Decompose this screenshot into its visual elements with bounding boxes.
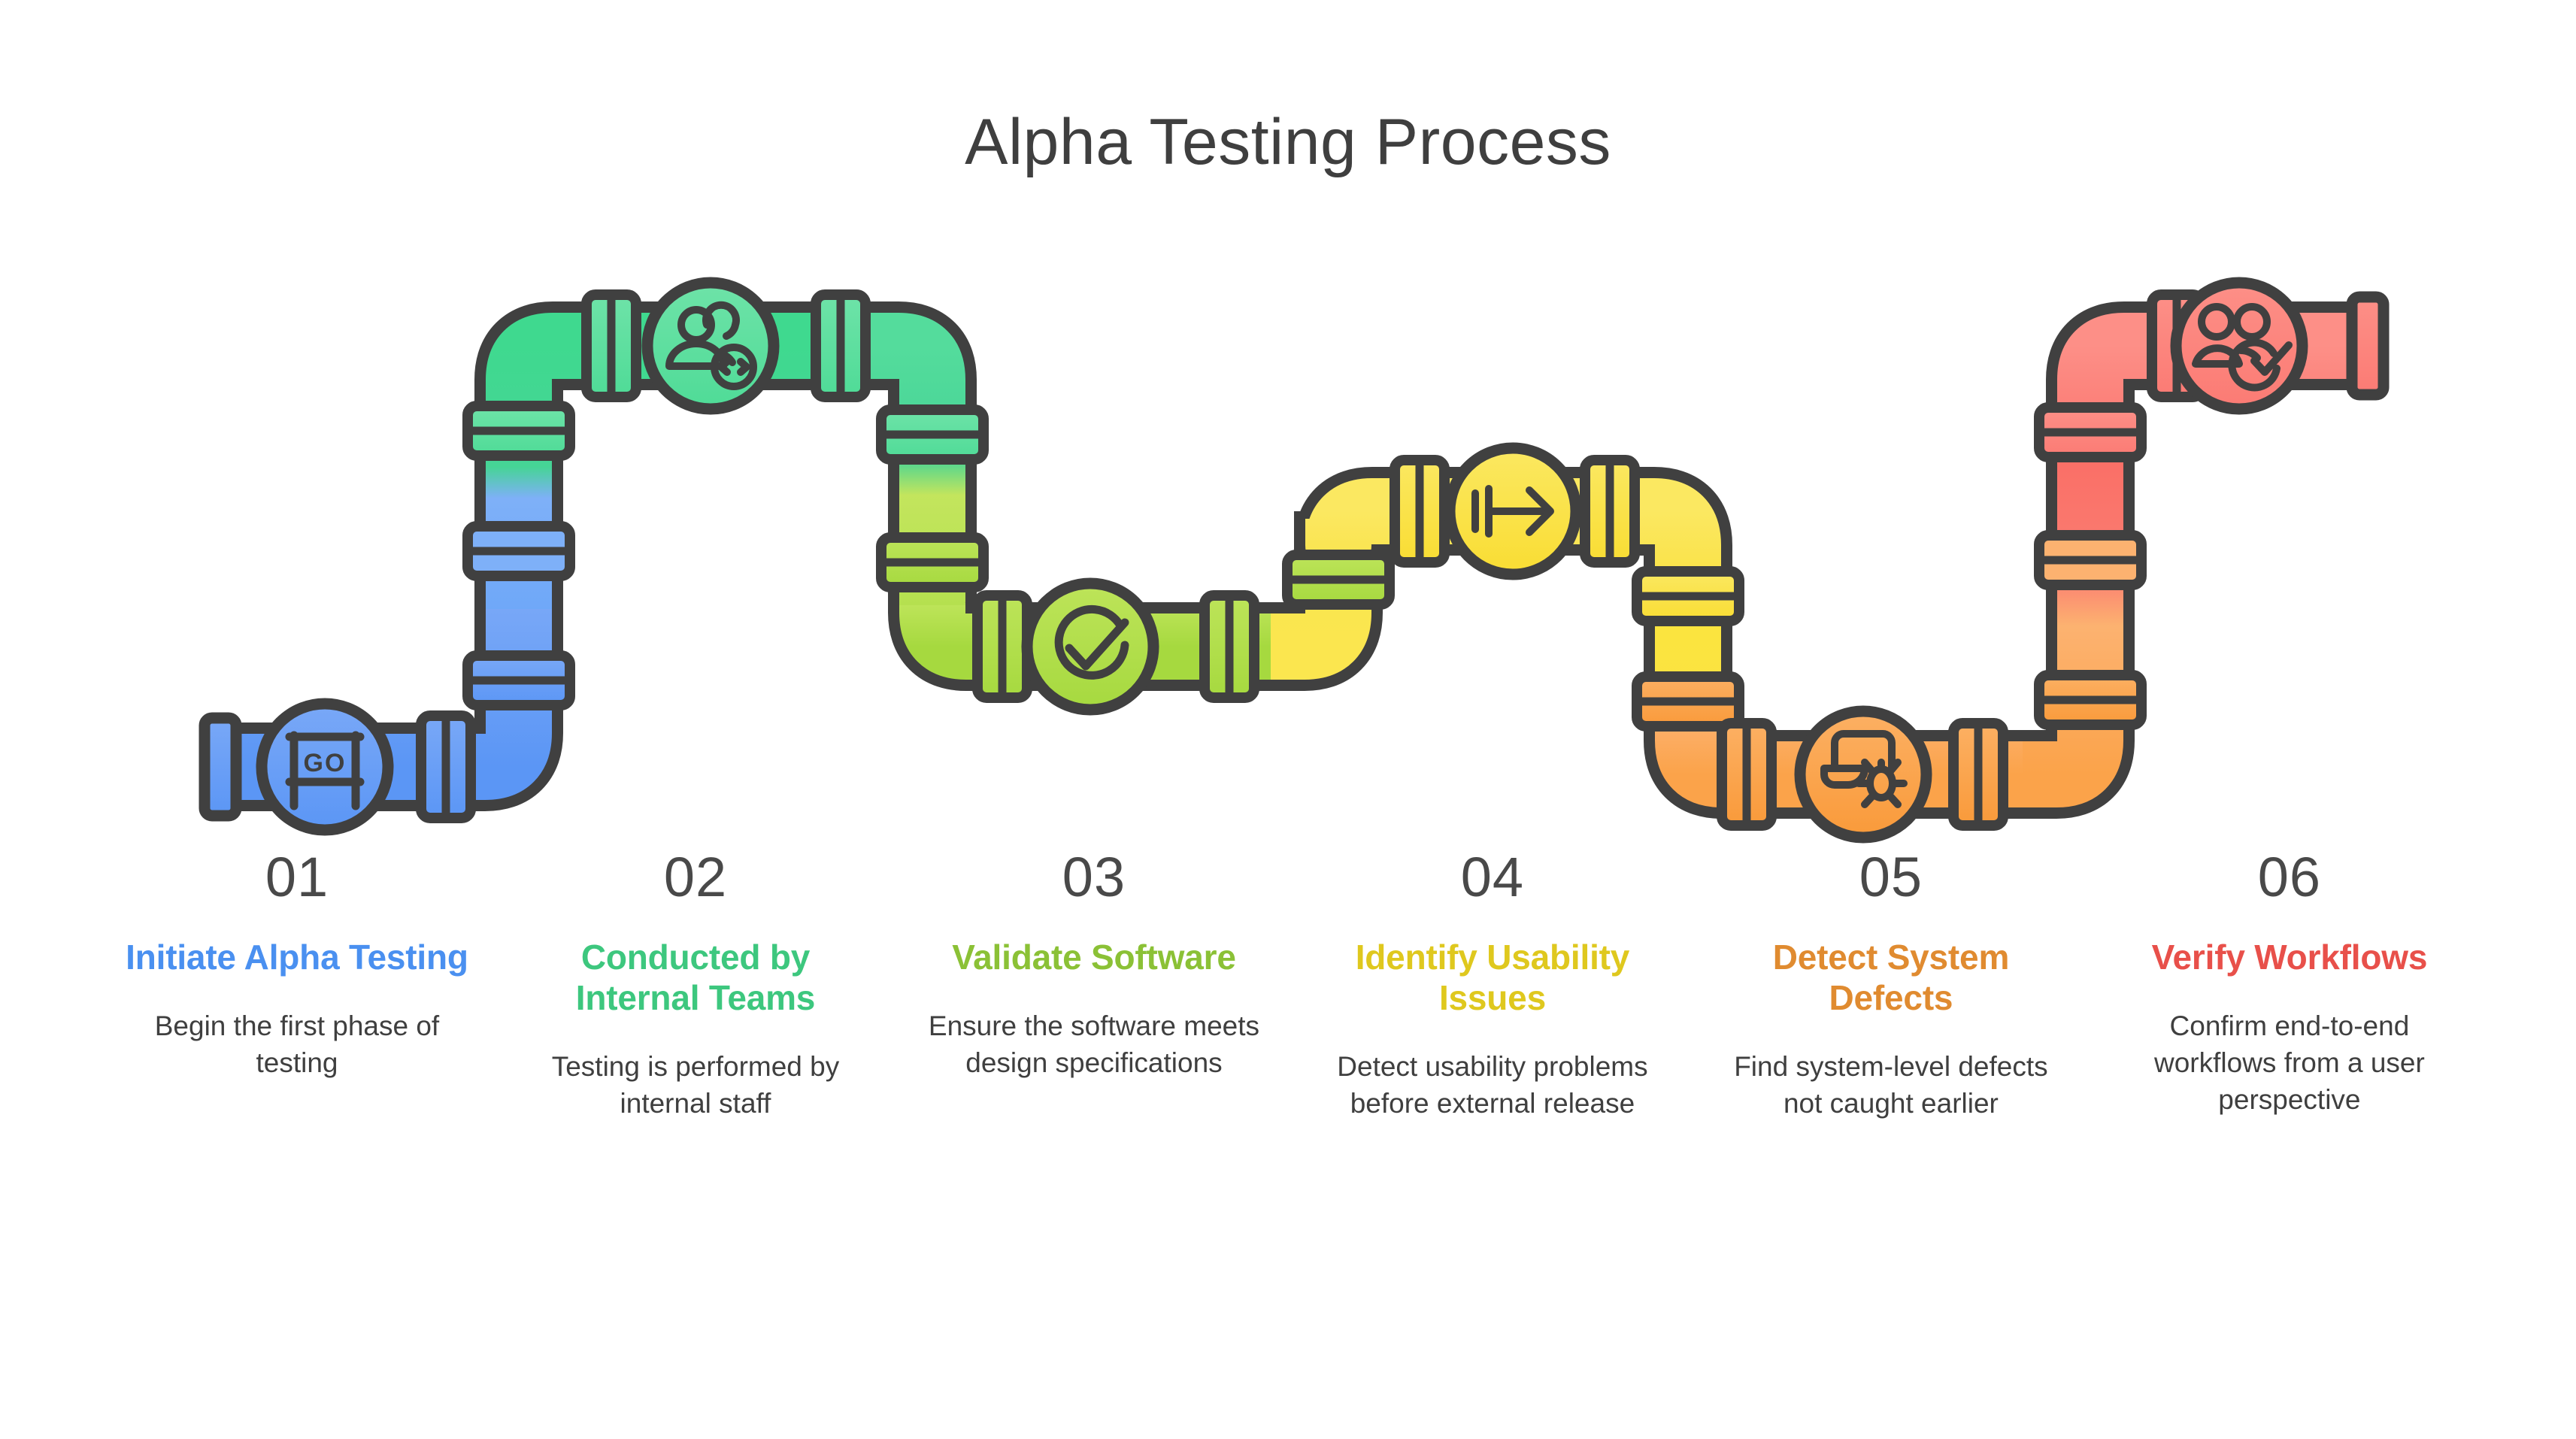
check-circle-icon bbox=[1059, 609, 1125, 675]
pipe-coupling bbox=[977, 595, 1027, 698]
step-column-05: 05 Detect System Defects Find system-lev… bbox=[1692, 848, 2090, 1122]
pipe-coupling bbox=[468, 406, 570, 456]
pipe-coupling bbox=[881, 538, 983, 587]
pipe-segment-01-02-riser bbox=[519, 346, 872, 609]
step-number: 01 bbox=[117, 848, 477, 907]
pipe-coupling bbox=[2152, 295, 2202, 397]
pipe-segment-05 bbox=[2023, 421, 2090, 774]
pipe-coupling bbox=[1637, 677, 1739, 726]
step-number: 06 bbox=[2110, 848, 2469, 907]
step-title: Validate Software bbox=[914, 937, 1274, 977]
step-description: Detect usability problems before externa… bbox=[1313, 1048, 1672, 1122]
pipe-segment-04-05 bbox=[1688, 624, 2030, 774]
pipe-coupling bbox=[1287, 555, 1390, 604]
pipe-coupling bbox=[1953, 723, 2003, 826]
users-check-icon bbox=[2196, 307, 2289, 388]
pipe-end-cap-left bbox=[205, 718, 236, 816]
pipe-coupling bbox=[586, 295, 636, 397]
go-sign-icon: GO bbox=[289, 735, 360, 806]
pipeline-diagram: GO bbox=[0, 0, 2576, 1439]
step-number: 02 bbox=[516, 848, 875, 907]
step-column-03: 03 Validate Software Ensure the software… bbox=[895, 848, 1293, 1081]
pipe-coupling bbox=[1722, 723, 1771, 826]
step-description: Confirm end-to-end workflows from a user… bbox=[2110, 1007, 2469, 1119]
pipe-coupling bbox=[2039, 675, 2141, 725]
step-title: Verify Workflows bbox=[2110, 937, 2469, 977]
pipe-coupling bbox=[1395, 460, 1444, 562]
pipe-coupling bbox=[2039, 535, 2141, 585]
pipe-end-cap-right bbox=[2352, 297, 2384, 395]
step-title: Conducted by Internal Teams bbox=[516, 937, 875, 1019]
page-title: Alpha Testing Process bbox=[0, 105, 2576, 180]
step-node-03[interactable] bbox=[1027, 583, 1153, 710]
svg-text:GO: GO bbox=[304, 749, 347, 777]
step-column-06: 06 Verify Workflows Confirm end-to-end w… bbox=[2090, 848, 2489, 1119]
laptop-bug-icon bbox=[1824, 734, 1904, 804]
pipe-coupling bbox=[1205, 595, 1254, 698]
step-description: Find system-level defects not caught ear… bbox=[1711, 1048, 2071, 1122]
pipe-coupling bbox=[881, 410, 983, 459]
pipe-segment-06 bbox=[2090, 346, 2365, 429]
step-node-04[interactable] bbox=[1450, 448, 1576, 574]
pipe-segment-02-03 bbox=[932, 605, 1278, 647]
pipe-segment-02 bbox=[865, 346, 932, 613]
step-number: 04 bbox=[1313, 848, 1672, 907]
pipe-segment-04 bbox=[1338, 511, 1688, 632]
step-node-05[interactable] bbox=[1800, 711, 1926, 838]
pipe-coupling bbox=[468, 656, 570, 705]
start-arrow-icon bbox=[1475, 489, 1550, 534]
step-column-01: 01 Initiate Alpha Testing Begin the firs… bbox=[98, 848, 496, 1081]
step-title: Identify Usability Issues bbox=[1313, 937, 1672, 1019]
step-description: Testing is performed by internal staff bbox=[516, 1048, 875, 1122]
step-title: Initiate Alpha Testing bbox=[117, 937, 477, 977]
pipe-coupling bbox=[421, 716, 471, 818]
pipe-coupling bbox=[1585, 460, 1635, 562]
infographic-canvas: Alpha Testing Process bbox=[0, 0, 2576, 1439]
steps-columns: 01 Initiate Alpha Testing Begin the firs… bbox=[98, 848, 2489, 1122]
pipe-coupling bbox=[816, 295, 865, 397]
pipe-coupling bbox=[1637, 571, 1739, 621]
step-column-02: 02 Conducted by Internal Teams Testing i… bbox=[496, 848, 895, 1122]
step-column-04: 04 Identify Usability Issues Detect usab… bbox=[1293, 848, 1692, 1122]
step-description: Ensure the software meets design specifi… bbox=[914, 1007, 1274, 1081]
step-title: Detect System Defects bbox=[1711, 937, 2071, 1019]
step-number: 05 bbox=[1711, 848, 2071, 907]
pipe-segment-03-04 bbox=[1271, 511, 1338, 647]
step-description: Begin the first phase of testing bbox=[117, 1007, 477, 1081]
pipe-coupling bbox=[2039, 407, 2141, 457]
step-number: 03 bbox=[914, 848, 1274, 907]
step-node-02[interactable] bbox=[647, 283, 774, 409]
step-node-01[interactable]: GO bbox=[262, 704, 388, 830]
pipe-coupling bbox=[468, 526, 570, 576]
pipe-segment-01 bbox=[214, 601, 519, 767]
users-code-icon bbox=[669, 305, 753, 386]
step-node-06[interactable] bbox=[2176, 283, 2302, 409]
